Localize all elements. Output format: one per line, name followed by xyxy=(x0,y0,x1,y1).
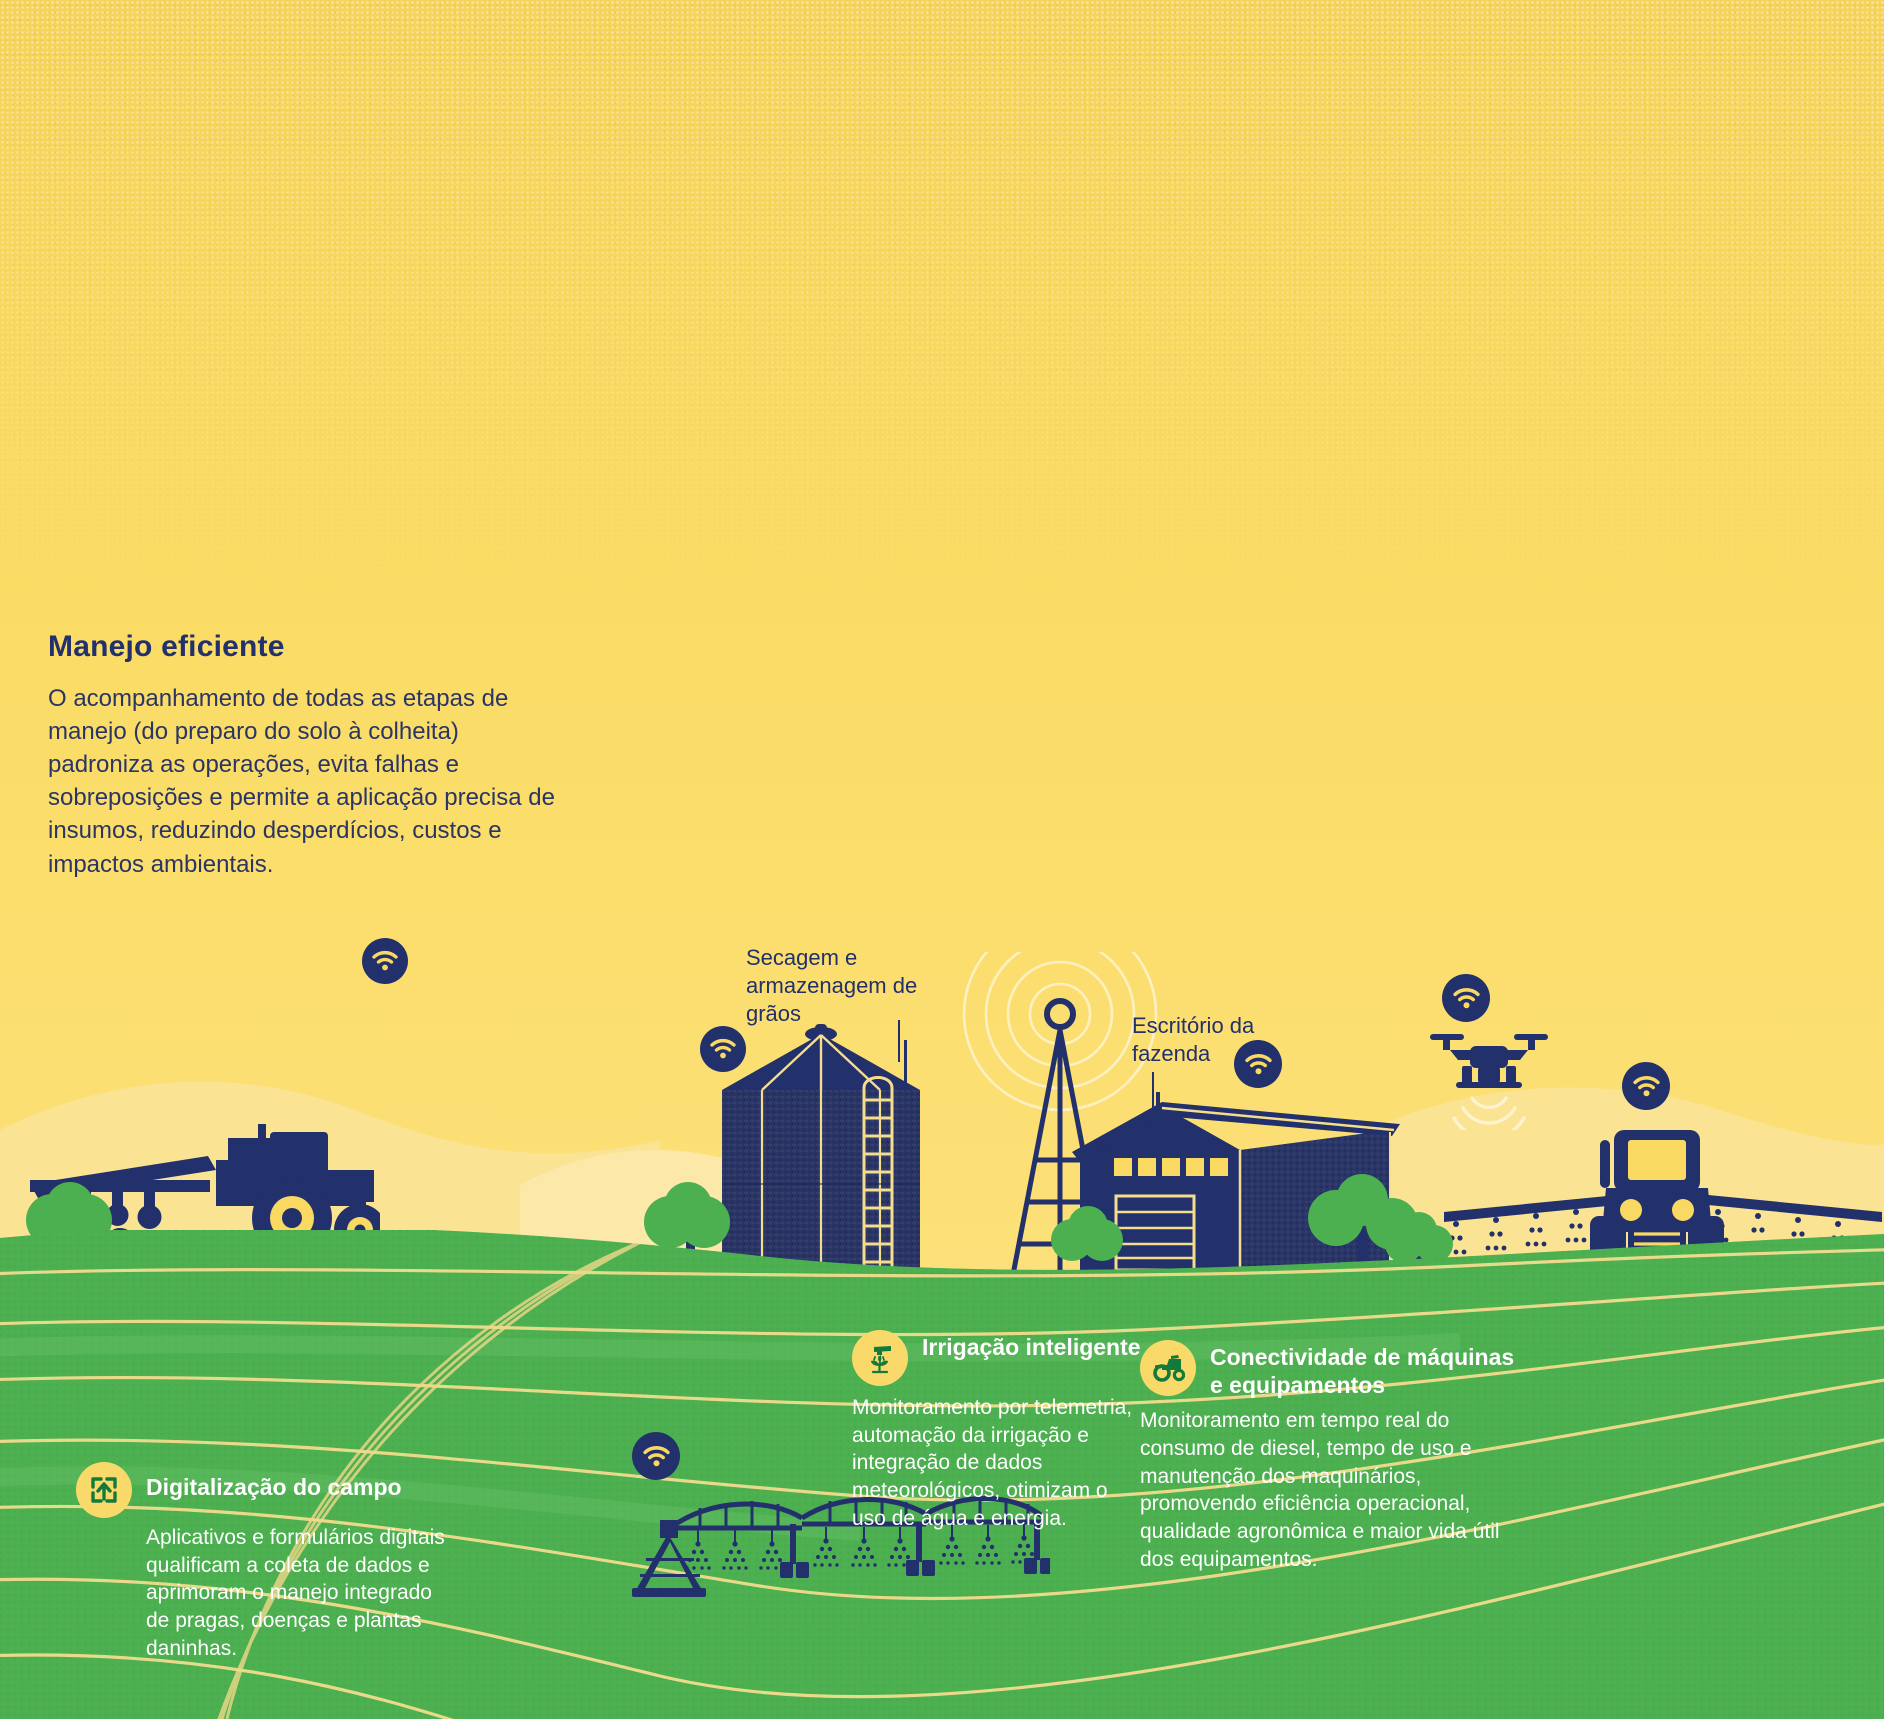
intro-block: Manejo eficiente O acompanhamento de tod… xyxy=(48,630,568,881)
wifi-sprayer-icon xyxy=(1622,1062,1670,1110)
card-irrigacao-inteligente: Irrigação inteligente Monitoramento por … xyxy=(852,1330,1142,1533)
intro-paragraph: O acompanhamento de todas as etapas de m… xyxy=(48,682,568,881)
leader-line-office xyxy=(1152,1072,1154,1112)
upload-box-icon xyxy=(76,1462,132,1518)
infographic-canvas: Manejo eficiente O acompanhamento de tod… xyxy=(0,0,1884,1719)
card-title: Digitalização do campo xyxy=(146,1462,402,1502)
label-grain-storage: Secagem e armazenagem de grãos xyxy=(746,944,966,1028)
card-title: Conectividade de máquinas e equipamentos xyxy=(1210,1340,1530,1399)
card-header: Irrigação inteligente xyxy=(852,1330,1142,1386)
sky-grain-texture xyxy=(0,0,1884,620)
card-conectividade-maquinas: Conectividade de máquinas e equipamentos… xyxy=(1140,1340,1530,1574)
wifi-silo-icon xyxy=(700,1026,746,1072)
card-header: Digitalização do campo xyxy=(76,1462,456,1518)
label-farm-office: Escritório da fazenda xyxy=(1132,1012,1332,1068)
card-body: Monitoramento em tempo real do consumo d… xyxy=(1140,1407,1530,1573)
card-title: Irrigação inteligente xyxy=(922,1330,1141,1362)
quadcopter-drone xyxy=(1424,1020,1554,1130)
card-header: Conectividade de máquinas e equipamentos xyxy=(1140,1340,1530,1399)
wifi-plow-tractor-icon xyxy=(362,938,408,984)
card-body: Monitoramento por telemetria, automação … xyxy=(852,1394,1142,1533)
page-title: Manejo eficiente xyxy=(48,630,568,664)
tractor-icon xyxy=(1140,1340,1196,1396)
leader-line-silo xyxy=(898,1020,900,1062)
card-digitalizacao-do-campo: Digitalização do campo Aplicativos e for… xyxy=(76,1462,456,1663)
wifi-pivot-icon xyxy=(632,1432,680,1480)
card-body: Aplicativos e formulários digitais quali… xyxy=(146,1524,456,1663)
wifi-drone-icon xyxy=(1442,974,1490,1022)
sprinkler-plant-icon xyxy=(852,1330,908,1386)
